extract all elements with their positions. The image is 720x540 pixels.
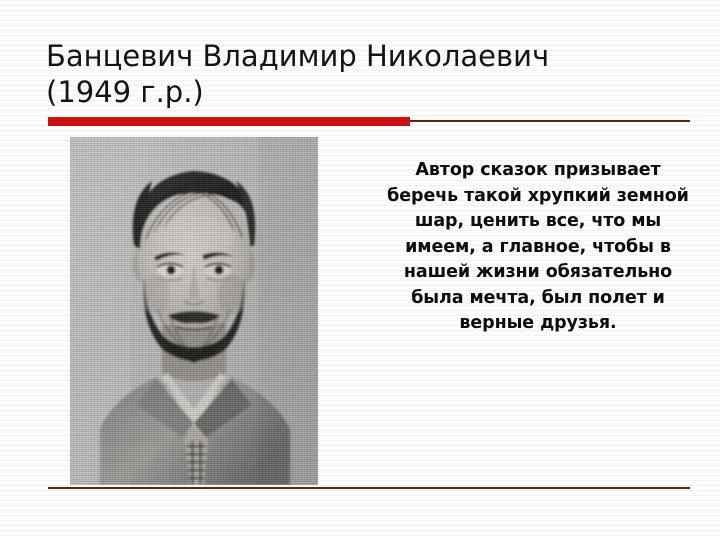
portrait-photo: [70, 137, 318, 485]
quote-block: Автор сказок призывает беречь такой хруп…: [384, 158, 692, 337]
title-line-birthyear: (1949 г.р.): [46, 74, 686, 110]
title-line-name: Банцевич Владимир Николаевич: [46, 38, 686, 74]
footer-divider: [48, 487, 690, 489]
title-divider: [48, 117, 690, 126]
quote-text: Автор сказок призывает беречь такой хруп…: [384, 158, 692, 337]
title-divider-accent-bar: [48, 117, 410, 126]
title-divider-thin-rule: [410, 120, 690, 122]
portrait-photo-image: [70, 137, 318, 485]
presentation-slide: Банцевич Владимир Николаевич (1949 г.р.): [0, 0, 720, 540]
page-title: Банцевич Владимир Николаевич (1949 г.р.): [46, 38, 686, 110]
